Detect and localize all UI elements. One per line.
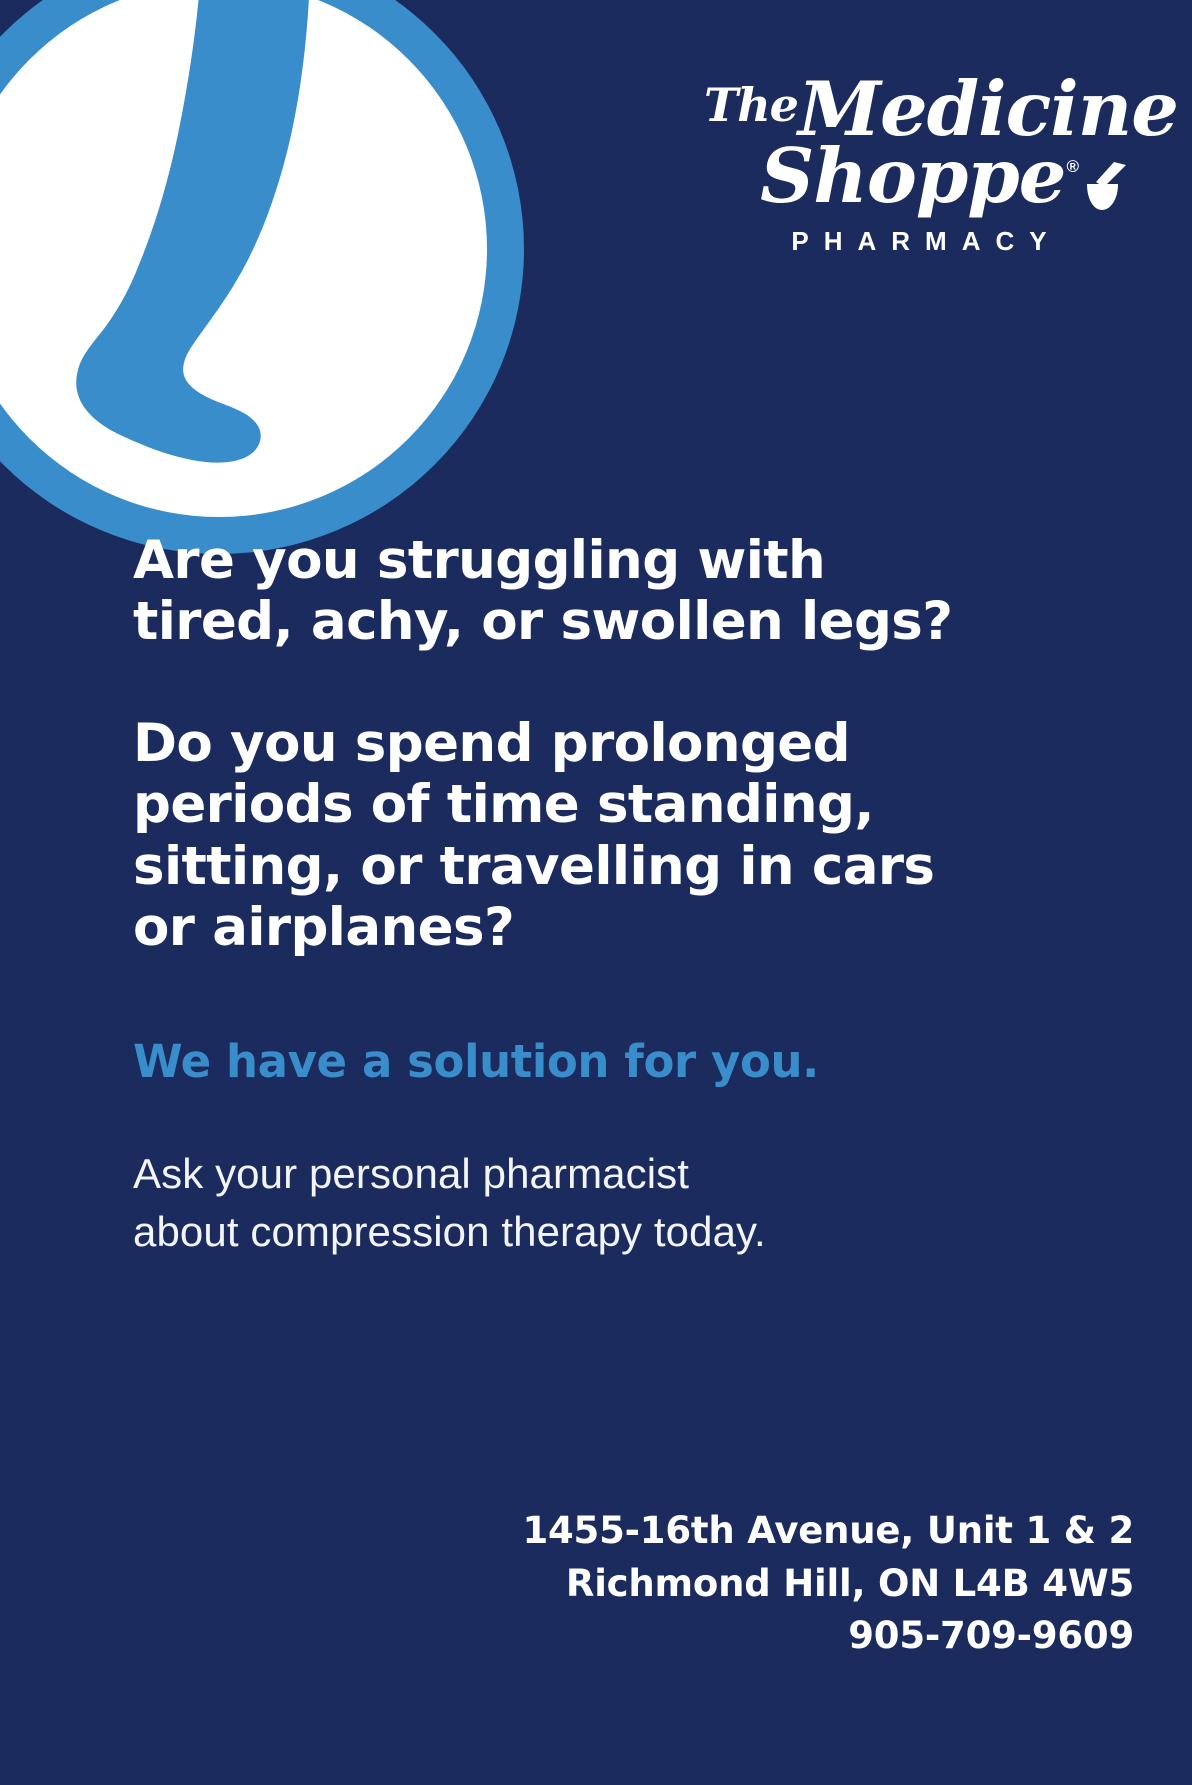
leg-in-circle-icon [0,0,534,564]
mortar-and-pestle-icon [1084,160,1130,212]
compression-therapy-poster: TheMedicine Shoppe® PHARMACY Are you str… [0,0,1192,1785]
brand-word-shoppe: Shoppe [760,132,1065,220]
address-block: 1455-16th Avenue, Unit 1 & 2 Richmond Hi… [522,1505,1134,1663]
address-city: Richmond Hill, ON L4B 4W5 [522,1558,1134,1611]
address-street: 1455-16th Avenue, Unit 1 & 2 [522,1505,1134,1558]
headline-primary: Are you struggling with tired, achy, or … [133,530,1063,653]
brand-logo: TheMedicine Shoppe® PHARMACY [704,74,1134,257]
brand-script: TheMedicine Shoppe® [704,74,1134,214]
headline-secondary: Do you spend prolonged periods of time s… [133,713,1063,959]
address-phone[interactable]: 905-709-9609 [522,1610,1134,1663]
brand-tagline-pharmacy: PHARMACY [704,226,1134,257]
brand-word-the: The [704,78,798,132]
registered-trademark-icon: ® [1066,157,1078,176]
accent-solution-line: We have a solution for you. [133,959,1063,1089]
poster-copy: Are you struggling with tired, achy, or … [133,530,1063,1261]
body-call-to-action: Ask your personal pharmacist about compr… [133,1089,1063,1261]
brand-line-shoppe: Shoppe® [704,139,1134,214]
